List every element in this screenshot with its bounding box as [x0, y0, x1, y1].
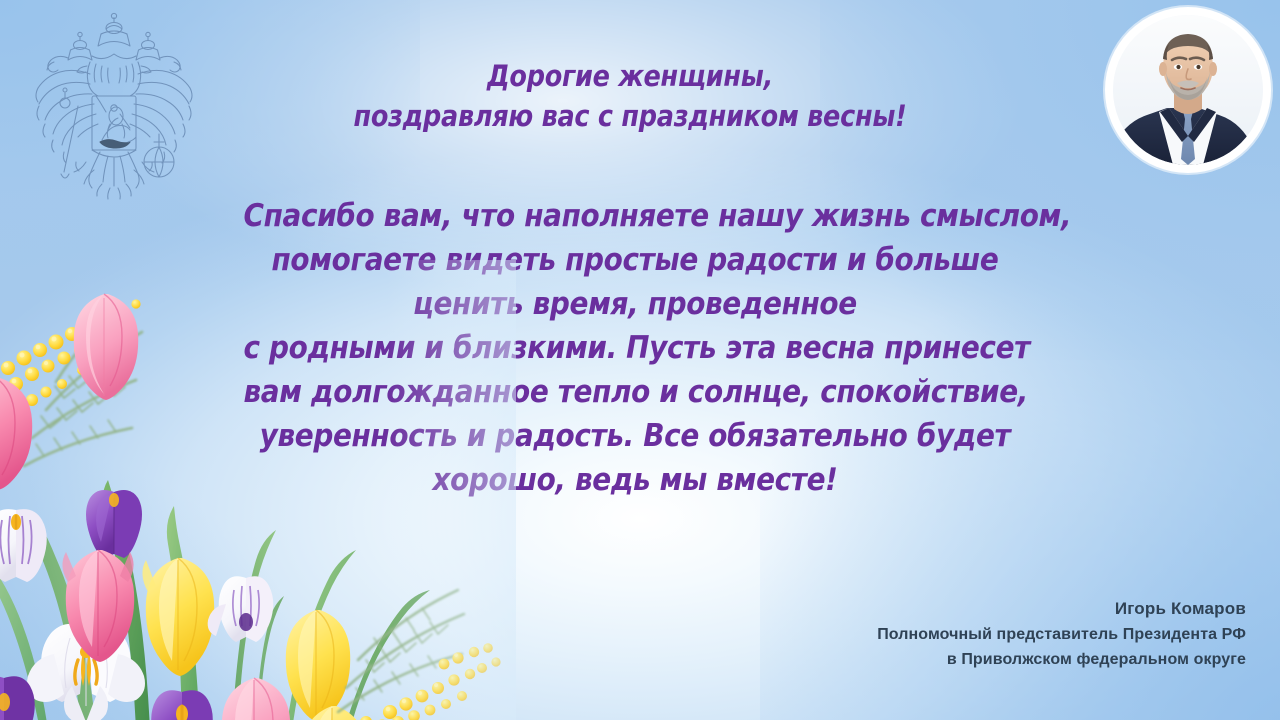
body-line-6: уверенность и радость. Все обязательно б… [244, 414, 1027, 458]
body-line-3: ценить время, проведенное [244, 282, 1027, 326]
page-title: Дорогие женщины, поздравляю вас с праздн… [278, 56, 982, 136]
avatar-image [1113, 15, 1263, 165]
signature-block: Игорь Комаров Полномочный представитель … [877, 596, 1246, 672]
headline-line-1: Дорогие женщины, [278, 56, 982, 96]
body-line-1: Спасибо вам, что наполняете нашу жизнь с… [244, 194, 1027, 238]
portrait-illustration [1113, 15, 1263, 165]
headline-line-2: поздравляю вас с праздником весны! [278, 96, 982, 136]
russian-coat-of-arms-icon [24, 12, 204, 204]
signature-name: Игорь Комаров [877, 596, 1246, 622]
body-line-7: хорошо, ведь мы вместе! [244, 458, 1027, 502]
signature-title-line-1: Полномочный представитель Президента РФ [877, 622, 1246, 647]
body-line-5: вам долгожданное тепло и солнце, спокойс… [244, 370, 1027, 414]
body-line-4: с родными и близкими. Пусть эта весна пр… [244, 326, 1027, 370]
avatar [1110, 12, 1266, 168]
signature-title-line-2: в Приволжском федеральном округе [877, 647, 1246, 672]
greeting-body: Спасибо вам, что наполняете нашу жизнь с… [200, 194, 1070, 502]
body-line-2: помогаете видеть простые радости и больш… [244, 238, 1027, 282]
greeting-card: Дорогие женщины, поздравляю вас с праздн… [0, 0, 1280, 720]
